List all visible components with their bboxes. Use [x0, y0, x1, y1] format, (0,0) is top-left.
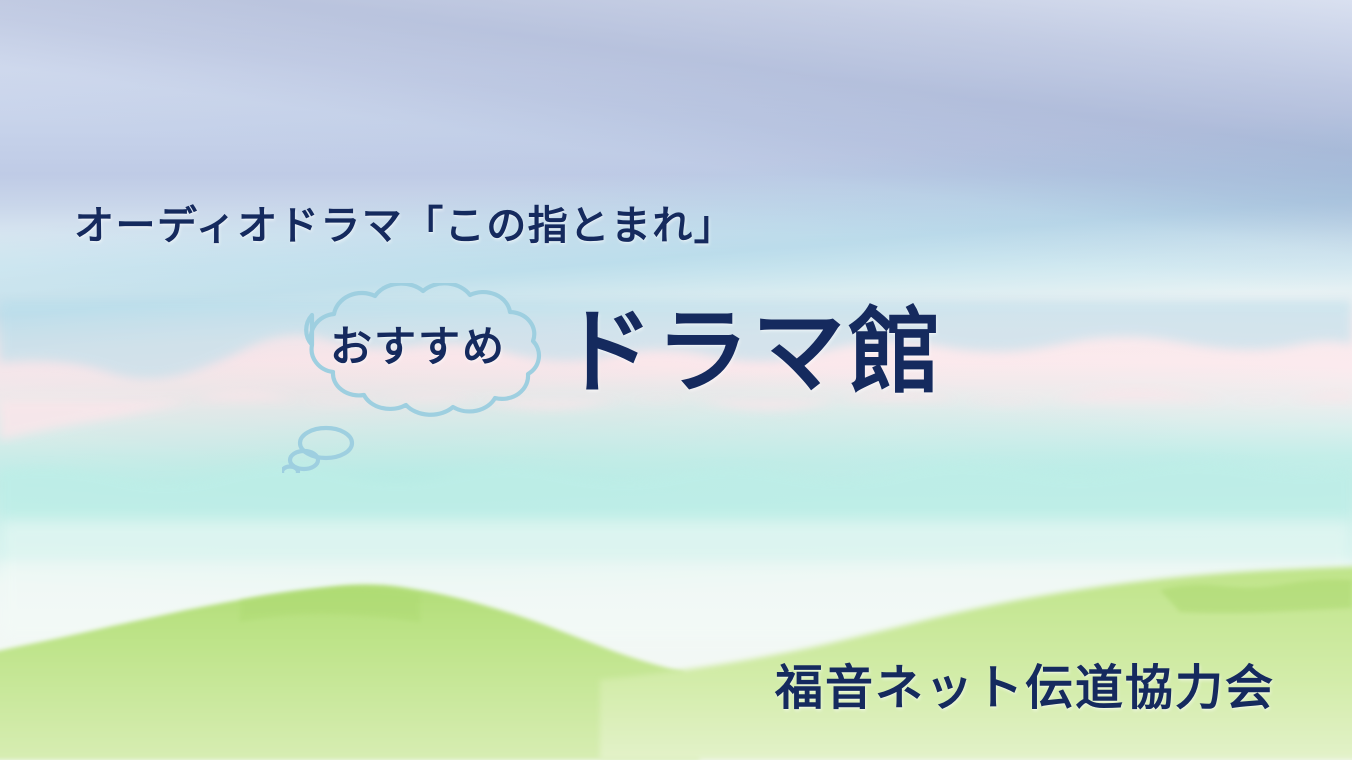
slide-canvas: オーディオドラマ「この指とまれ」 おすすめ ドラマ館 福音ネット伝道協力会 [0, 0, 1352, 760]
thought-bubble-icon [282, 283, 587, 473]
recommendation-label: おすすめ [330, 313, 506, 374]
green-hills [0, 530, 1352, 760]
organization-name: 福音ネット伝道協力会 [775, 648, 1275, 718]
audio-drama-subtitle: オーディオドラマ「この指とまれ」 [74, 193, 735, 251]
page-title: ドラマ館 [560, 306, 944, 399]
